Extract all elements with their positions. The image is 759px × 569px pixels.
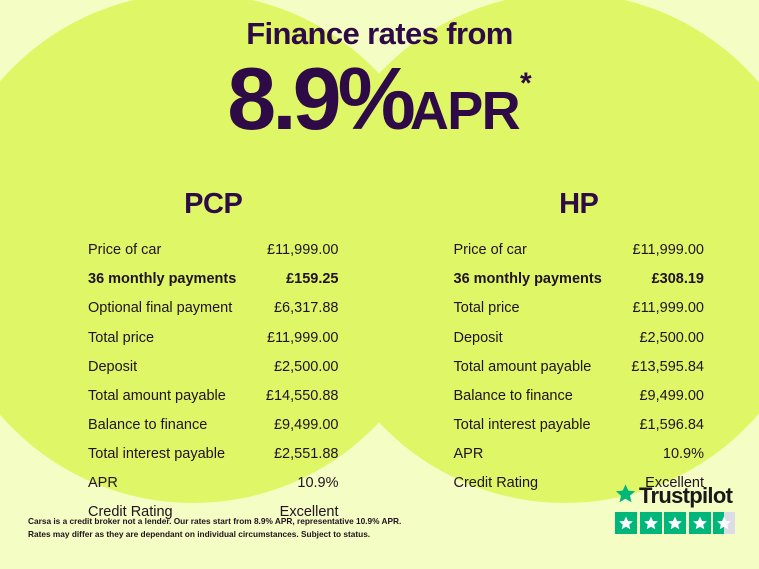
product-rows-hp: Price of car£11,999.00 36 monthly paymen… [454, 236, 705, 498]
row-label: Deposit [454, 331, 503, 346]
trustpilot-rating[interactable]: Trustpilot [615, 484, 741, 534]
star-icon [615, 483, 636, 509]
row-label: Price of car [88, 243, 161, 258]
table-row: Total interest payable£2,551.88 [88, 440, 339, 469]
row-value: £308.19 [642, 272, 704, 287]
star-icon [615, 512, 637, 534]
table-row: Total price£11,999.00 [88, 323, 339, 352]
trustpilot-label: Trustpilot [639, 485, 732, 507]
row-label: APR [454, 447, 484, 462]
row-label: Total interest payable [88, 447, 225, 462]
row-label: Total interest payable [454, 418, 591, 433]
row-label: 36 monthly payments [454, 272, 602, 287]
finance-comparison: PCP Price of car£11,999.00 36 monthly pa… [0, 190, 759, 527]
hero-rate: 8.9% APR * [0, 55, 759, 143]
row-value: £13,595.84 [621, 360, 704, 375]
row-value: 10.9% [653, 447, 704, 462]
table-row: Total price£11,999.00 [454, 294, 705, 323]
row-value: £11,999.00 [257, 331, 339, 346]
table-row: Price of car£11,999.00 [88, 236, 339, 265]
row-value: £2,551.88 [264, 447, 339, 462]
star-icon [640, 512, 662, 534]
row-value: £1,596.84 [629, 418, 704, 433]
product-column-pcp: PCP Price of car£11,999.00 36 monthly pa… [0, 190, 396, 527]
star-icon [689, 512, 711, 534]
product-title-hp: HP [454, 190, 705, 219]
table-row: 36 monthly payments£159.25 [88, 265, 339, 294]
hero-rate-unit: APR [410, 84, 519, 138]
hero-kicker: Finance rates from [0, 18, 759, 49]
row-value: £9,499.00 [629, 389, 704, 404]
table-row: Deposit£2,500.00 [454, 323, 705, 352]
table-row: Deposit£2,500.00 [88, 352, 339, 381]
row-value: £2,500.00 [629, 331, 704, 346]
table-row: Total amount payable£14,550.88 [88, 381, 339, 410]
row-label: Total amount payable [454, 360, 592, 375]
row-value: £159.25 [276, 272, 338, 287]
row-label: Total amount payable [88, 389, 226, 404]
star-icon [664, 512, 686, 534]
row-label: APR [88, 476, 118, 491]
table-row: Total interest payable£1,596.84 [454, 411, 705, 440]
hero-footnote-marker: * [520, 69, 532, 99]
row-value: 10.9% [287, 476, 338, 491]
star-half-icon [713, 512, 735, 534]
table-row: Optional final payment£6,317.88 [88, 294, 339, 323]
row-value: £11,999.00 [623, 243, 705, 258]
row-label: Balance to finance [88, 418, 207, 433]
table-row: Price of car£11,999.00 [454, 236, 705, 265]
disclaimer-line-1: Carsa is a credit broker not a lender. O… [28, 515, 428, 528]
row-value: £11,999.00 [257, 243, 339, 258]
hero-header: Finance rates from 8.9% APR * [0, 18, 759, 143]
table-row: Total amount payable£13,595.84 [454, 352, 705, 381]
table-row: Balance to finance£9,499.00 [454, 381, 705, 410]
trustpilot-stars [615, 512, 741, 534]
product-column-hp: HP Price of car£11,999.00 36 monthly pay… [396, 190, 759, 527]
row-value: £14,550.88 [256, 389, 339, 404]
disclaimer-line-2: Rates may differ as they are dependant o… [28, 528, 428, 541]
row-label: Optional final payment [88, 301, 232, 316]
row-value: £2,500.00 [264, 360, 339, 375]
row-value: £9,499.00 [264, 418, 339, 433]
product-rows-pcp: Price of car£11,999.00 36 monthly paymen… [88, 236, 339, 527]
product-title-pcp: PCP [88, 190, 339, 219]
row-label: Price of car [454, 243, 527, 258]
row-label: 36 monthly payments [88, 272, 236, 287]
disclaimer: Carsa is a credit broker not a lender. O… [28, 515, 428, 541]
row-value: £11,999.00 [623, 301, 705, 316]
row-label: Total price [88, 331, 154, 346]
row-label: Total price [454, 301, 520, 316]
hero-rate-value: 8.9% [227, 55, 412, 143]
row-label: Deposit [88, 360, 137, 375]
table-row: 36 monthly payments£308.19 [454, 265, 705, 294]
promo-banner: Finance rates from 8.9% APR * PCP Price … [0, 0, 759, 569]
trustpilot-wordmark: Trustpilot [615, 484, 741, 508]
table-row: APR10.9% [88, 469, 339, 498]
table-row: APR10.9% [454, 440, 705, 469]
row-value: £6,317.88 [264, 301, 339, 316]
row-label: Credit Rating [454, 476, 539, 491]
table-row: Balance to finance£9,499.00 [88, 411, 339, 440]
row-label: Balance to finance [454, 389, 573, 404]
